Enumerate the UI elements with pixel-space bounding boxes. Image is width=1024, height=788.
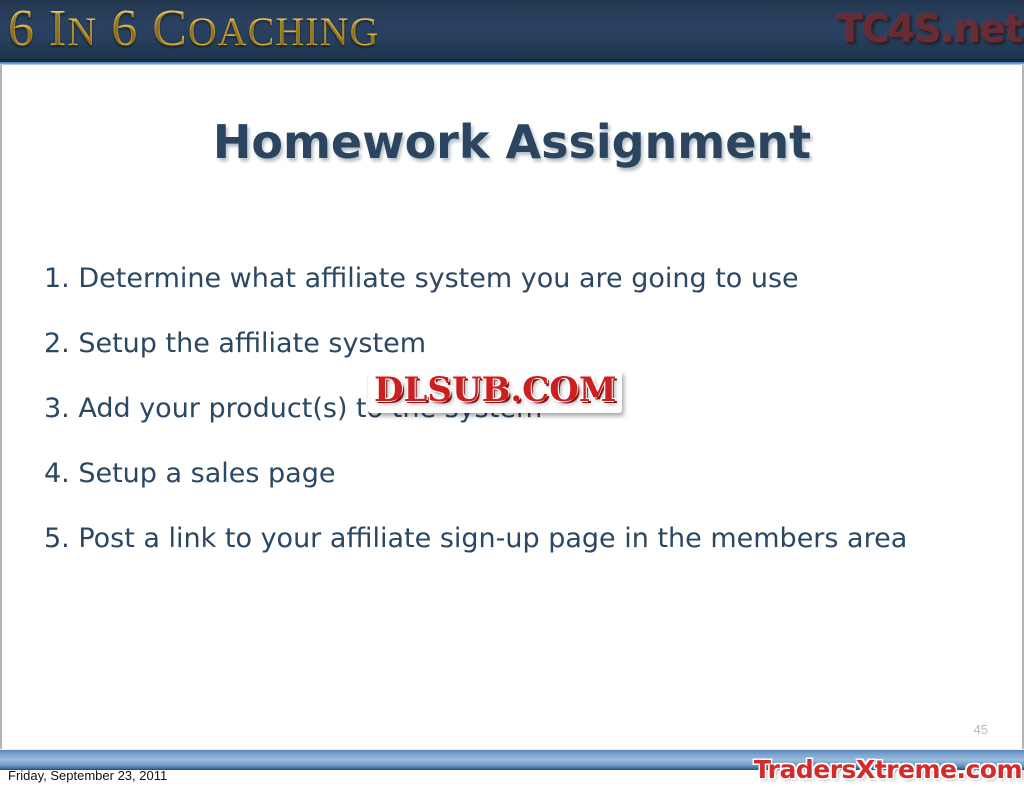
dlsub-watermark: DLSUB.COM: [368, 371, 622, 413]
brand-title-part-2: N: [67, 9, 97, 54]
footer-date: Friday, September 23, 2011: [8, 768, 167, 783]
tc4s-site-logo: TC4S.net: [837, 1, 1022, 57]
homework-task-list: 1. Determine what affiliate system you a…: [44, 265, 984, 590]
brand-title-part-1: 6 I: [8, 0, 67, 57]
brand-title-part-4: OACHING: [188, 9, 379, 54]
slide-title: Homework Assignment: [2, 115, 1022, 169]
tradersxtreme-site-logo: TradersXtreme.com: [754, 757, 1022, 782]
list-item: 1. Determine what affiliate system you a…: [44, 265, 984, 292]
presentation-slide: 6 IN 6 COACHING TC4S.net Homework Assign…: [0, 0, 1024, 788]
brand-title: 6 IN 6 COACHING: [8, 0, 379, 62]
header-banner: 6 IN 6 COACHING TC4S.net: [0, 0, 1024, 62]
list-item: 2. Setup the affiliate system: [44, 330, 984, 357]
list-item: 4. Setup a sales page: [44, 460, 984, 487]
slide-page-number: 45: [974, 722, 988, 737]
list-item: 5. Post a link to your affiliate sign-up…: [44, 525, 984, 552]
brand-title-part-3: 6 C: [97, 0, 188, 57]
